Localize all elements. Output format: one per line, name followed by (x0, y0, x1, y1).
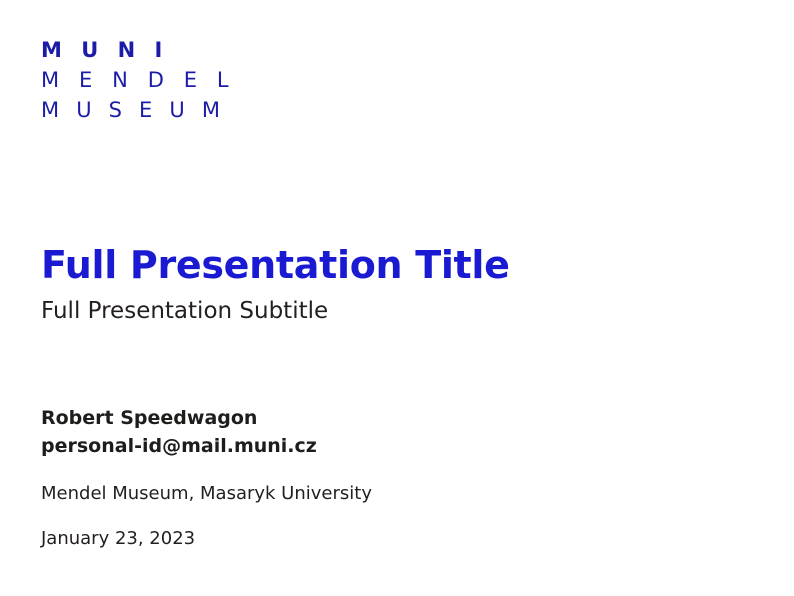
logo-line-muni: M U N I (41, 40, 341, 61)
affiliation-text: Mendel Museum, Masaryk University (41, 483, 741, 506)
muni-mendel-museum-logo: M U N I M E N D E L M U S E U M (41, 40, 341, 121)
meta-block: Mendel Museum, Masaryk University Januar… (41, 483, 741, 550)
logo-line-mendel: M E N D E L (41, 70, 341, 91)
presentation-title-slide: M U N I M E N D E L M U S E U M Full Pre… (0, 0, 794, 596)
presentation-date: January 23, 2023 (41, 528, 741, 551)
title-block: Full Presentation Title Full Presentatio… (41, 243, 741, 325)
presentation-title: Full Presentation Title (41, 243, 741, 288)
author-block: Robert Speedwagon personal-id@mail.muni.… (41, 405, 741, 460)
author-name: Robert Speedwagon (41, 405, 741, 433)
logo-line-museum: M U S E U M (41, 100, 341, 121)
presentation-subtitle: Full Presentation Subtitle (41, 298, 741, 326)
author-email: personal-id@mail.muni.cz (41, 433, 741, 461)
